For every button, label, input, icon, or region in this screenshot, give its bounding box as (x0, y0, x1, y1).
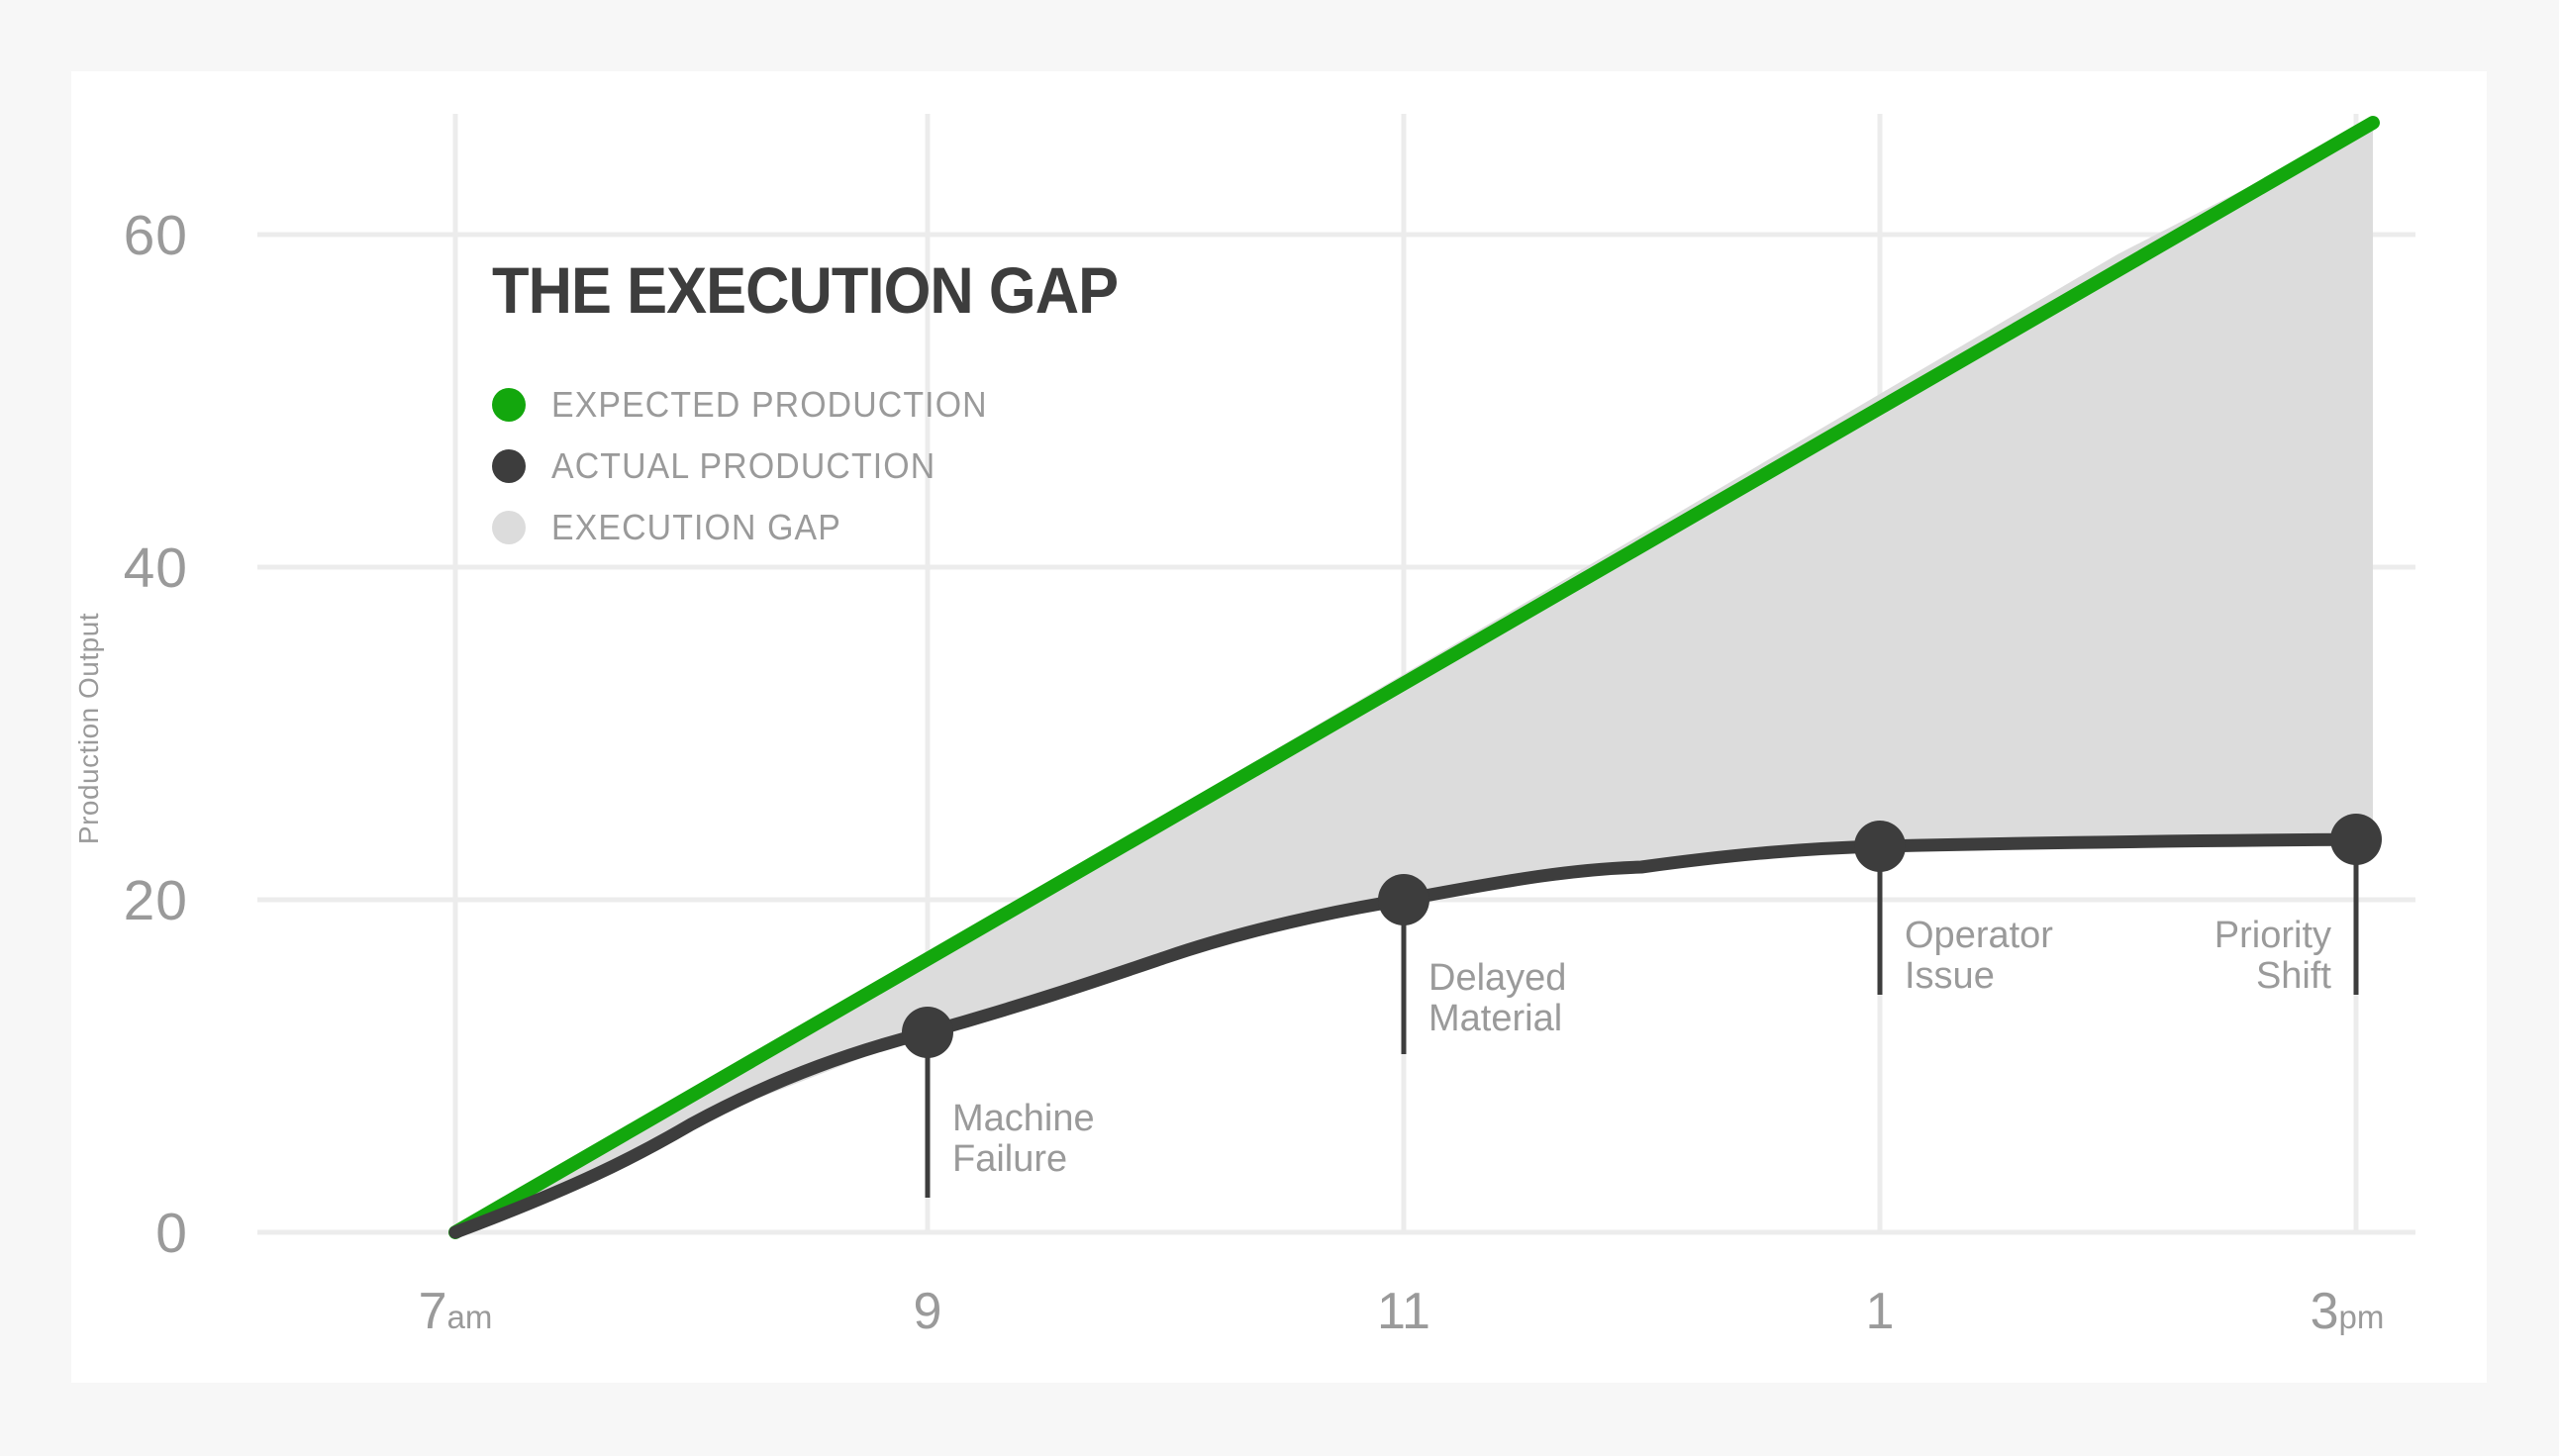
annotation-priority-shift: Priority Shift (1990, 916, 2331, 997)
x-tick-7am-num: 7 (419, 1283, 447, 1340)
x-tick-1pm: 1 (1761, 1282, 1999, 1341)
x-tick-9: 9 (809, 1282, 1046, 1341)
legend-dot-gap-icon (492, 511, 526, 544)
annotation-delayed-material-line2: Material (1428, 999, 1566, 1039)
legend-label-actual: ACTUAL PRODUCTION (551, 445, 935, 487)
x-tick-7am-suffix: am (447, 1299, 493, 1335)
annotation-priority-shift-line1: Priority (1990, 916, 2331, 956)
chart-title: THE EXECUTION GAP (492, 252, 1118, 328)
legend-item-execution-gap[interactable]: EXECUTION GAP (492, 497, 1016, 558)
data-point-9am (902, 1007, 953, 1058)
x-tick-3pm: 3pm (2228, 1282, 2466, 1341)
y-tick-60: 60 (0, 203, 188, 268)
data-point-1pm (1854, 821, 1906, 872)
annotation-delayed-material-line1: Delayed (1428, 958, 1566, 999)
x-tick-11: 11 (1285, 1282, 1523, 1341)
data-point-3pm (2330, 814, 2382, 865)
annotation-machine-failure-line1: Machine (952, 1099, 1095, 1139)
legend-item-actual-production[interactable]: ACTUAL PRODUCTION (492, 436, 1016, 497)
annotation-machine-failure: Machine Failure (952, 1099, 1095, 1180)
chart-legend: EXPECTED PRODUCTION ACTUAL PRODUCTION EX… (492, 374, 1016, 558)
legend-dot-expected-icon (492, 388, 526, 422)
legend-label-gap: EXECUTION GAP (551, 507, 841, 548)
y-axis-title: Production Output (73, 580, 105, 877)
x-tick-3pm-num: 3 (2311, 1283, 2339, 1340)
y-tick-20: 20 (0, 868, 188, 933)
annotation-priority-shift-line2: Shift (1990, 956, 2331, 997)
annotation-machine-failure-line2: Failure (952, 1139, 1095, 1180)
legend-dot-actual-icon (492, 449, 526, 483)
x-tick-3pm-suffix: pm (2339, 1299, 2385, 1335)
y-tick-0: 0 (0, 1201, 188, 1266)
x-tick-7am: 7am (337, 1282, 574, 1341)
legend-item-expected-production[interactable]: EXPECTED PRODUCTION (492, 374, 1016, 436)
execution-gap-chart (0, 0, 2559, 1456)
x-tick-11-num: 11 (1377, 1283, 1430, 1340)
data-point-11am (1378, 874, 1429, 925)
x-tick-9-num: 9 (914, 1283, 942, 1340)
x-tick-1pm-num: 1 (1866, 1283, 1895, 1340)
legend-label-expected: EXPECTED PRODUCTION (551, 384, 988, 426)
annotation-delayed-material: Delayed Material (1428, 958, 1566, 1039)
chart-page: 60 40 20 0 Production Output 7am 9 11 1 … (0, 0, 2559, 1456)
